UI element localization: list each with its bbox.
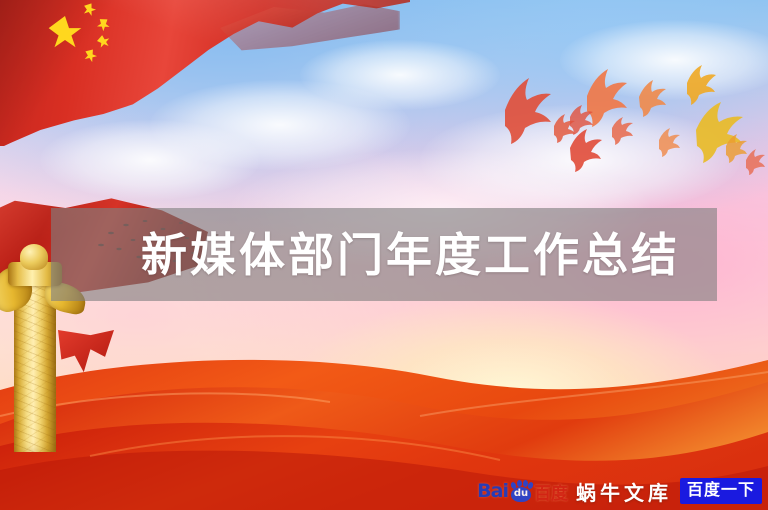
baidu-search-button[interactable]: 百度一下 xyxy=(680,478,762,503)
paw-pad-label: du xyxy=(514,489,528,500)
huabiao-knob xyxy=(20,244,48,270)
paw-pad: du xyxy=(511,487,531,502)
banner-cover: 新媒体部门年度工作总结 Bai du 百度 蜗牛文库 百度一下 xyxy=(0,0,768,510)
chinese-national-flag xyxy=(0,0,410,146)
watermark-bar: Bai du 百度 蜗牛文库 百度一下 xyxy=(477,476,762,506)
baidu-logo-latin: Bai xyxy=(477,480,508,502)
paw-icon: du xyxy=(509,480,533,502)
brand-label: 蜗牛文库 xyxy=(576,477,672,506)
page-title: 新媒体部门年度工作总结 xyxy=(141,232,680,278)
baidu-logo[interactable]: Bai du 百度 xyxy=(477,479,568,503)
baidu-logo-chinese: 百度 xyxy=(534,479,568,504)
title-band: 新媒体部门年度工作总结 xyxy=(51,208,717,301)
paw-toe xyxy=(517,480,522,487)
